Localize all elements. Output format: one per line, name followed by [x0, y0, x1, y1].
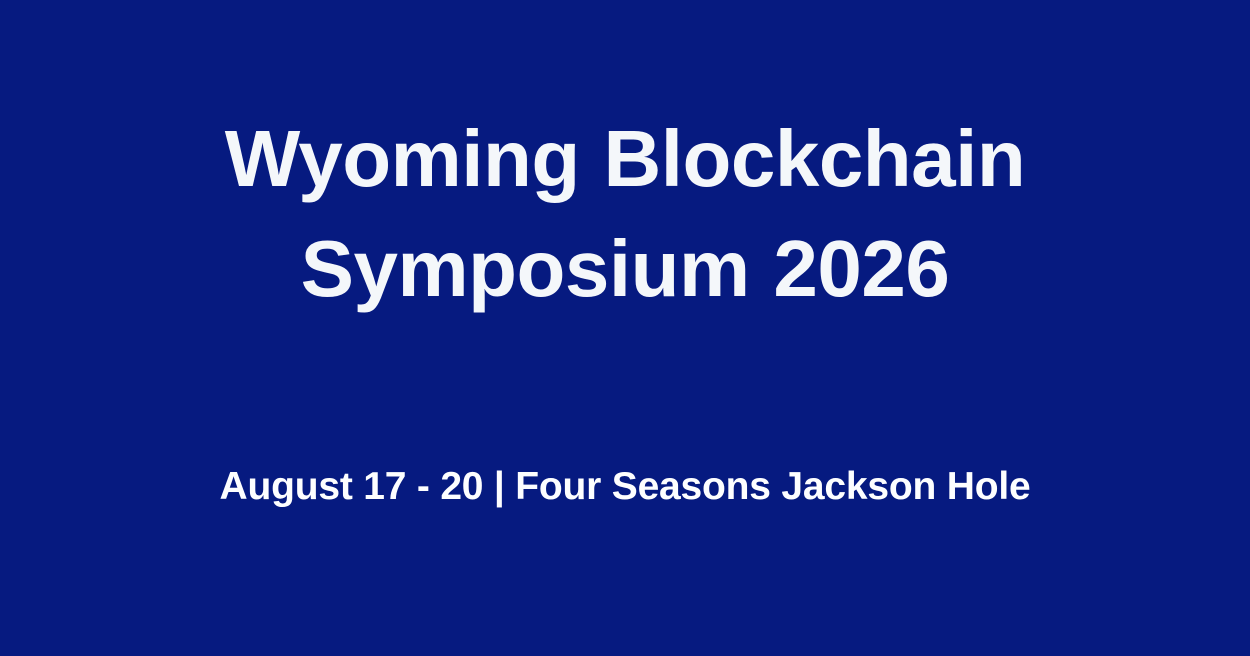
- page-title: Wyoming Blockchain Symposium 2026: [185, 104, 1065, 324]
- event-details-line: August 17 - 20 | Four Seasons Jackson Ho…: [75, 463, 1175, 511]
- event-banner: Wyoming Blockchain Symposium 2026 August…: [0, 0, 1250, 656]
- banner-content: Wyoming Blockchain Symposium 2026 August…: [0, 0, 1250, 656]
